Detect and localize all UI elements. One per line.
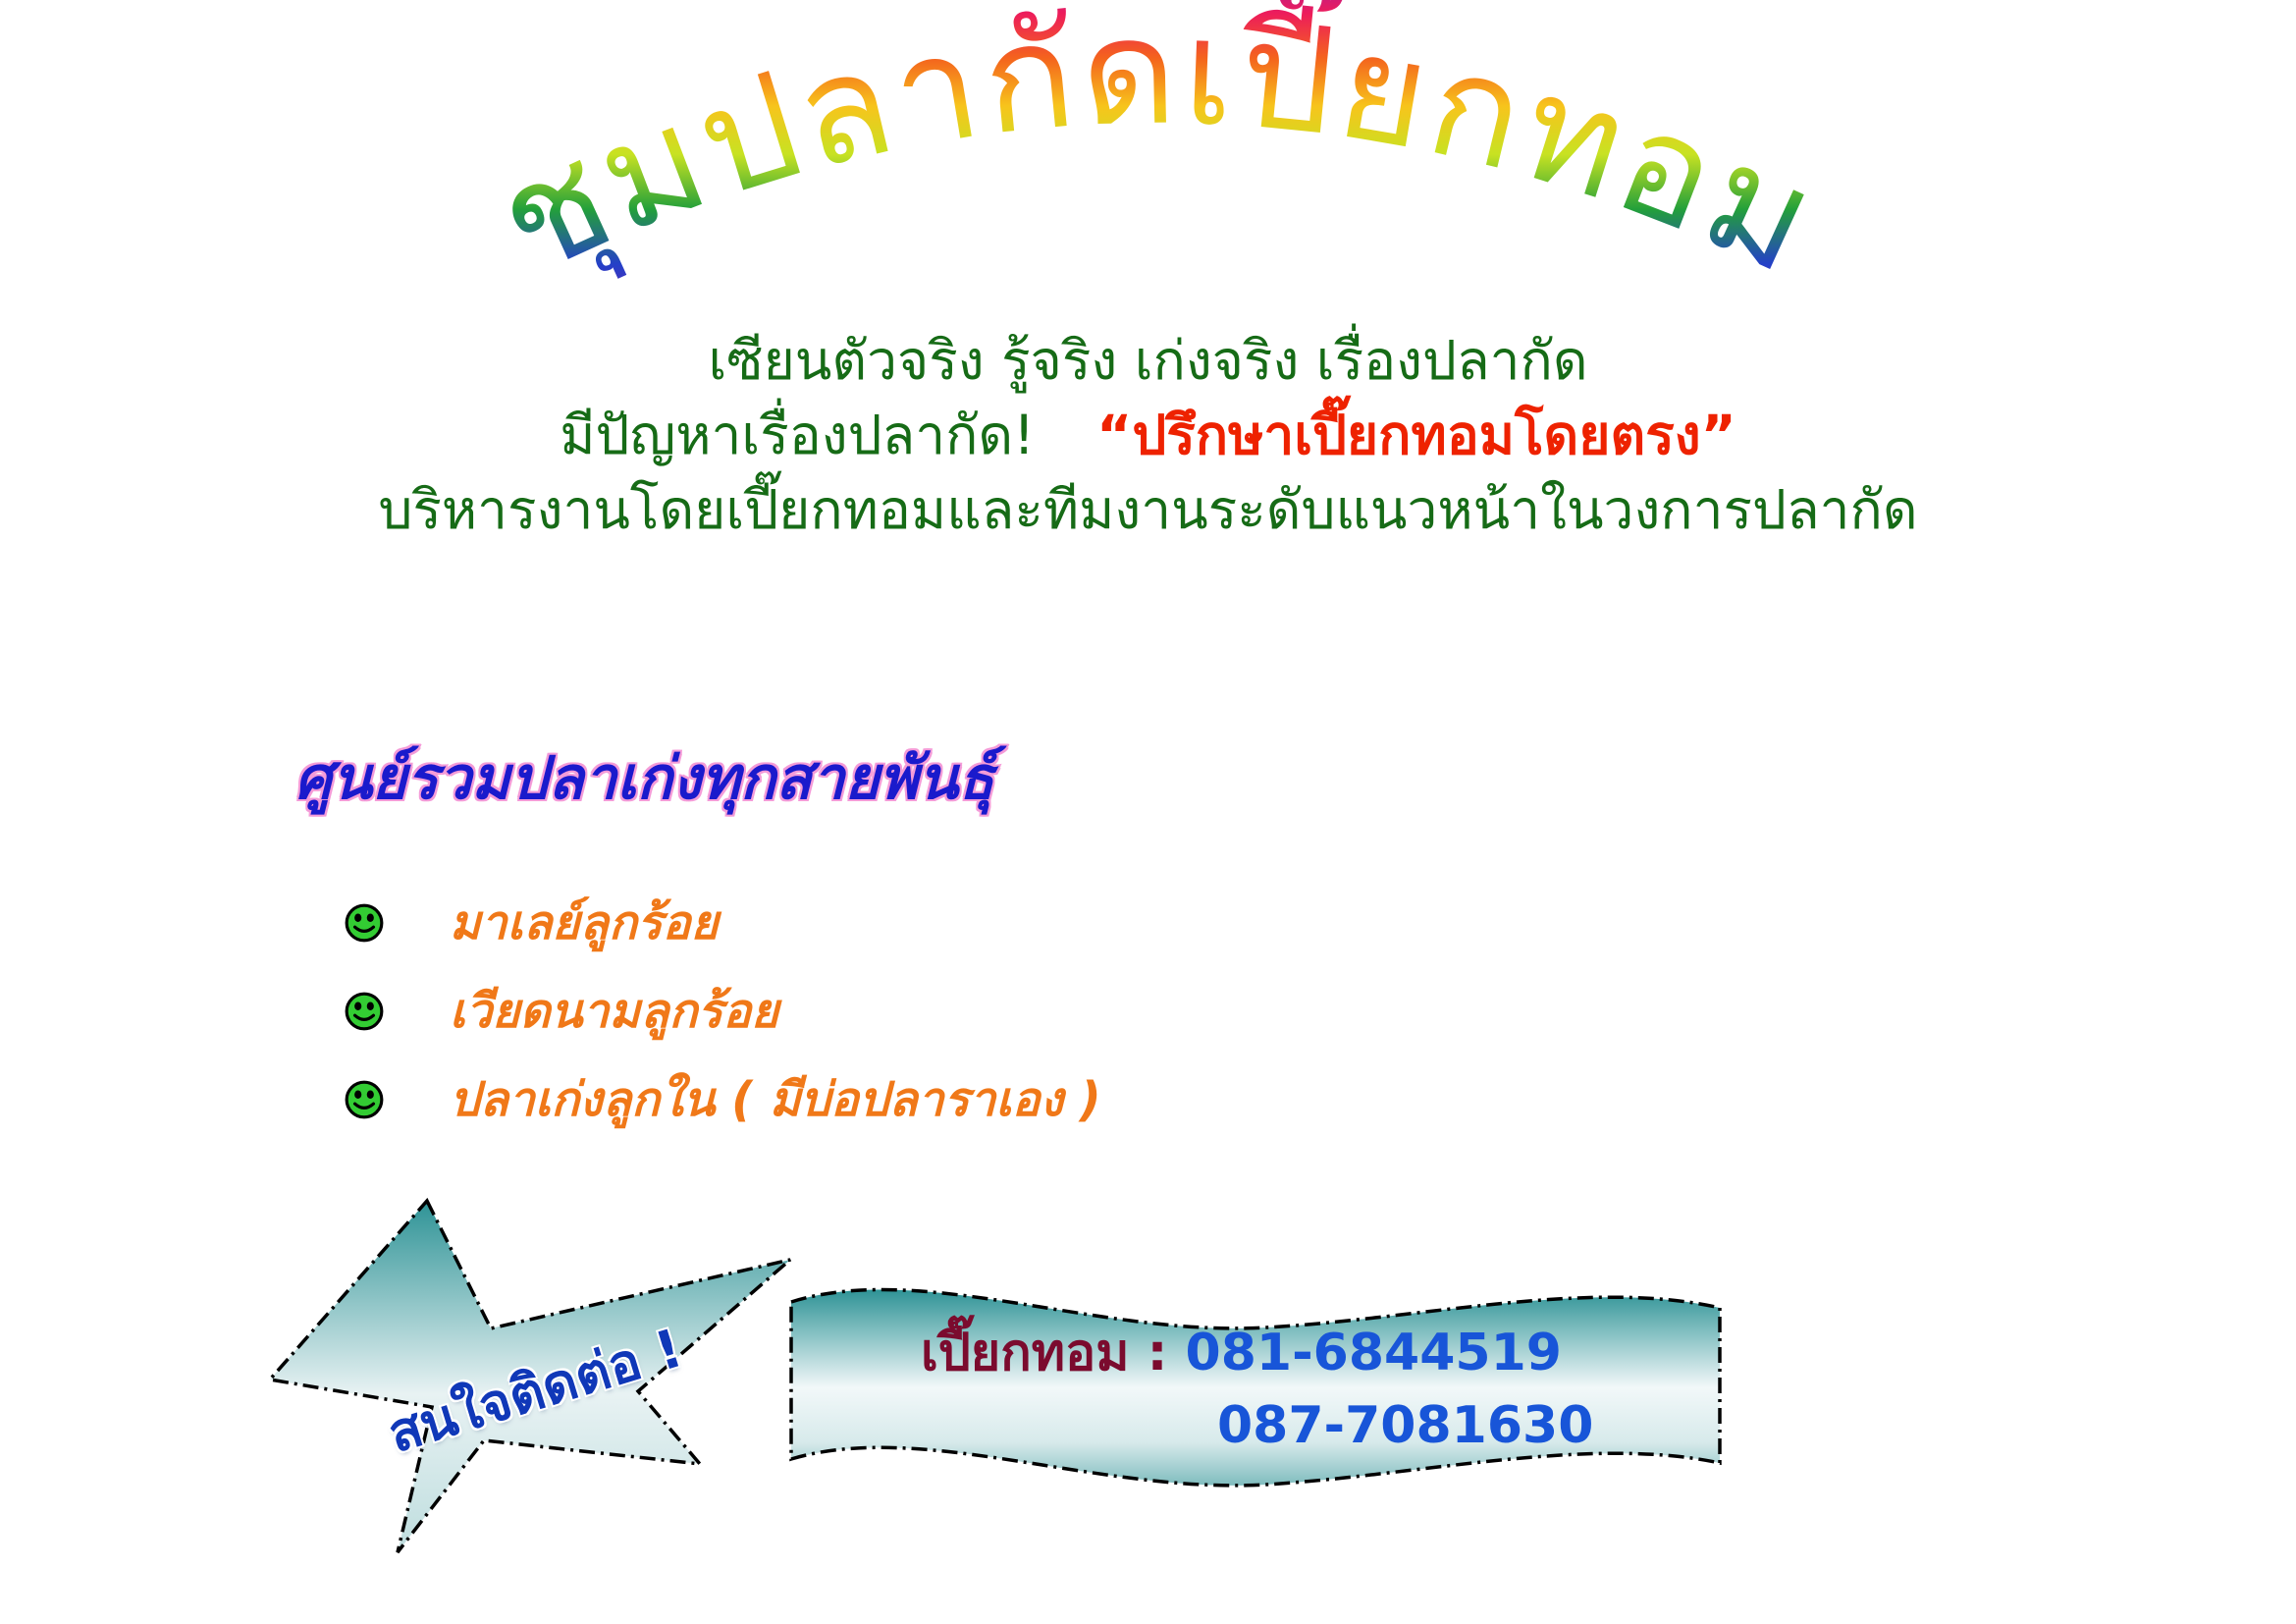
contact-star-callout: สนใจติดต่อ ! [260, 1183, 810, 1566]
list-item: มาเลย์ลูกร้อย [344, 879, 1718, 967]
intro-line-3: บริหารงานโดยเปี๊ยกทอมและทีมงานระดับแนวหน… [0, 473, 2296, 548]
intro-line-1: เซียนตัวจริง รู้จริง เก่งจริง เรื่องปลาก… [0, 324, 2296, 399]
category-heading: ศูนย์รวมปลาเก่งทุกสายพันธุ์ [294, 731, 994, 825]
list-item: ปลาเก่งลูกใน ( มีบ่อปลาราเอง ) [344, 1056, 1718, 1144]
banner-ribbon-shape [791, 1289, 1720, 1485]
wordart-title: ชุมปลากัดเปี๊ยกทอม [471, 20, 1845, 295]
intro-line-2-red: “ปรึกษาเปี๊ยกทอมโดยตรง” [1096, 404, 1736, 466]
smiley-face-icon [344, 902, 385, 944]
smiley-face-icon [344, 1079, 385, 1120]
contact-banner: เปี๊ยกทอม : 081-6844519 087-7081630 [775, 1267, 1733, 1497]
species-label: เวียดนามลูกร้อย [450, 974, 778, 1049]
wordart-title-text: ชุมปลากัดเปี๊ยกทอม [474, 0, 1843, 312]
intro-line-2-green: มีปัญหาเรื่องปลากัด! [560, 404, 1035, 466]
list-item: เวียดนามลูกร้อย [344, 967, 1718, 1056]
species-list: มาเลย์ลูกร้อย เวียดนามลูกร้อย ปลาเก่งลูก… [344, 879, 1718, 1144]
species-label: ปลาเก่งลูกใน ( มีบ่อปลาราเอง ) [450, 1062, 1101, 1137]
smiley-face-icon [344, 991, 385, 1032]
intro-text-block: เซียนตัวจริง รู้จริง เก่งจริง เรื่องปลาก… [0, 324, 2296, 548]
intro-line-2: มีปัญหาเรื่องปลากัด! “ปรึกษาเปี๊ยกทอมโดย… [0, 399, 2296, 473]
star-shape [270, 1201, 790, 1552]
species-label: มาเลย์ลูกร้อย [450, 886, 719, 960]
